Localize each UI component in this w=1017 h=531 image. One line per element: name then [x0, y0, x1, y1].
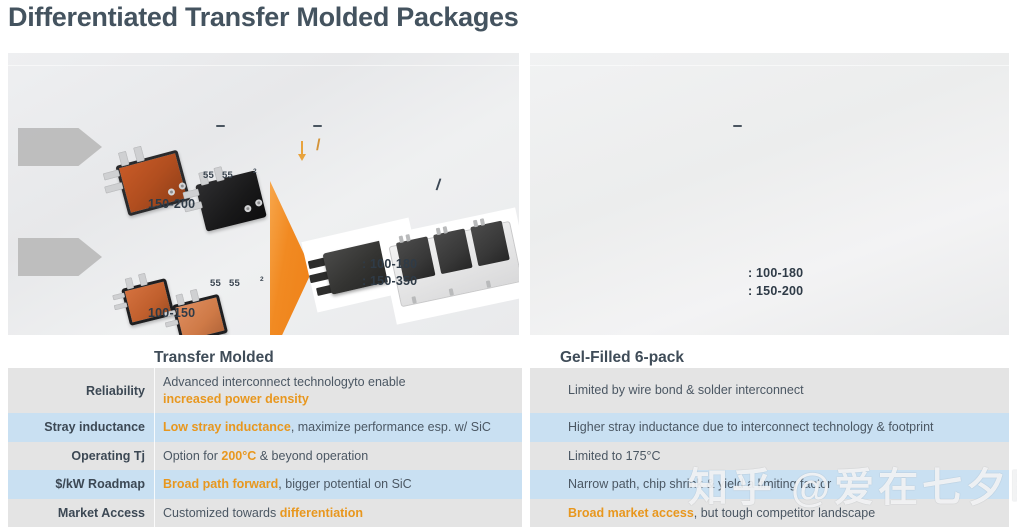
redacted-remnant-right	[733, 125, 742, 127]
cell-text: , bigger potential on SiC	[278, 477, 411, 491]
row-label-operating-tj: Operating Tj	[8, 442, 154, 471]
table-row: $/kW RoadmapBroad path forward, bigger p…	[8, 470, 1009, 499]
cell-gel-filled: Narrow path, chip shrink & yield a limit…	[530, 470, 1009, 499]
panel-label-7: 2	[260, 276, 264, 283]
cell-transfer-molded: Customized towards differentiation	[154, 499, 522, 528]
panel-label-0: 150-200	[148, 197, 195, 211]
gray-arrow-top	[18, 128, 102, 166]
panel-label-9: : 150-350	[362, 274, 417, 288]
panel-label-6: 55	[229, 278, 240, 289]
gray-arrow-bottom	[18, 238, 102, 276]
cell-text: Option for	[163, 449, 221, 463]
redacted-remnant-2	[313, 125, 322, 127]
table-row: ReliabilityAdvanced interconnect technol…	[8, 368, 1009, 413]
cell-gel-filled: Higher stray inductance due to interconn…	[530, 413, 1009, 442]
highlighted-text: increased power density	[163, 392, 309, 406]
panel-label-3: 55	[222, 170, 233, 181]
highlighted-text: Broad market access	[568, 506, 694, 520]
redacted-remnant-1	[216, 125, 225, 127]
cell-gel-filled: Limited to 175°C	[530, 442, 1009, 471]
panel-label-4: 2	[253, 168, 257, 175]
cell-gel-filled: Limited by wire bond & solder interconne…	[530, 368, 1009, 413]
cell-text: Limited by wire bond & solder interconne…	[568, 383, 804, 397]
cell-transfer-molded: Low stray inductance, maximize performan…	[154, 413, 522, 442]
panel-label-8: : 100-180	[362, 257, 417, 271]
cell-text: Narrow path, chip shrink & yield a limit…	[568, 477, 831, 491]
column-divider	[522, 413, 530, 442]
table-row: Stray inductanceLow stray inductance, ma…	[8, 413, 1009, 442]
visual-panels: / /	[8, 53, 1009, 335]
cell-gel-filled: Broad market access, but tough competito…	[530, 499, 1009, 528]
highlighted-text: differentiation	[280, 506, 363, 520]
slash-orange-icon: /	[316, 137, 320, 155]
cell-transfer-molded: Broad path forward, bigger potential on …	[154, 470, 522, 499]
row-label-reliability: Reliability	[8, 368, 154, 413]
row-label-kw-roadmap: $/kW Roadmap	[8, 470, 154, 499]
comparison-table: Transfer Molded Gel-Filled 6-pack Reliab…	[8, 340, 1009, 527]
column-divider	[522, 368, 530, 413]
cell-text: , but tough competitor landscape	[694, 506, 875, 520]
cell-transfer-molded: Option for 200°C & beyond operation	[154, 442, 522, 471]
panel-label-2: 55	[203, 170, 214, 181]
cell-transfer-molded: Advanced interconnect technologyto enabl…	[154, 368, 522, 413]
cell-text: Limited to 175°C	[568, 449, 661, 463]
cell-text: & beyond operation	[256, 449, 368, 463]
panel-label-0: : 100-180	[748, 266, 803, 280]
table-row: Operating TjOption for 200°C & beyond op…	[8, 442, 1009, 471]
page-title: Differentiated Transfer Molded Packages	[8, 2, 518, 33]
transfer-molded-visual-panel: / /	[8, 53, 519, 335]
table-header-row: Transfer Molded Gel-Filled 6-pack	[8, 340, 1009, 368]
table-row: Market AccessCustomized towards differen…	[8, 499, 1009, 528]
column-header-transfer-molded: Transfer Molded	[8, 349, 522, 368]
table-body: ReliabilityAdvanced interconnect technol…	[8, 368, 1009, 527]
column-divider	[522, 442, 530, 471]
column-header-gel-filled: Gel-Filled 6-pack	[522, 349, 1009, 368]
column-divider	[522, 499, 530, 528]
panel-label-1: 100-150	[148, 306, 195, 320]
highlighted-text: 200°C	[221, 449, 256, 463]
highlighted-text: Low stray inductance	[163, 420, 291, 434]
slide: Differentiated Transfer Molded Packages …	[0, 0, 1017, 531]
panel-label-5: 55	[210, 278, 221, 289]
slash-dark-icon: /	[435, 177, 442, 195]
cell-text: Advanced interconnect technologyto enabl…	[163, 375, 406, 389]
cell-text: , maximize performance esp. w/ SiC	[291, 420, 491, 434]
cell-text: Customized towards	[163, 506, 280, 520]
column-divider	[522, 470, 530, 499]
cell-text: Higher stray inductance due to interconn…	[568, 420, 934, 434]
down-arrow-icon	[297, 141, 307, 161]
row-label-stray-inductance: Stray inductance	[8, 413, 154, 442]
panel-label-1: : 150-200	[748, 284, 803, 298]
gel-filled-visual-panel: : 100-180: 150-200	[530, 53, 1009, 335]
row-label-market-access: Market Access	[8, 499, 154, 528]
highlighted-text: Broad path forward	[163, 477, 278, 491]
